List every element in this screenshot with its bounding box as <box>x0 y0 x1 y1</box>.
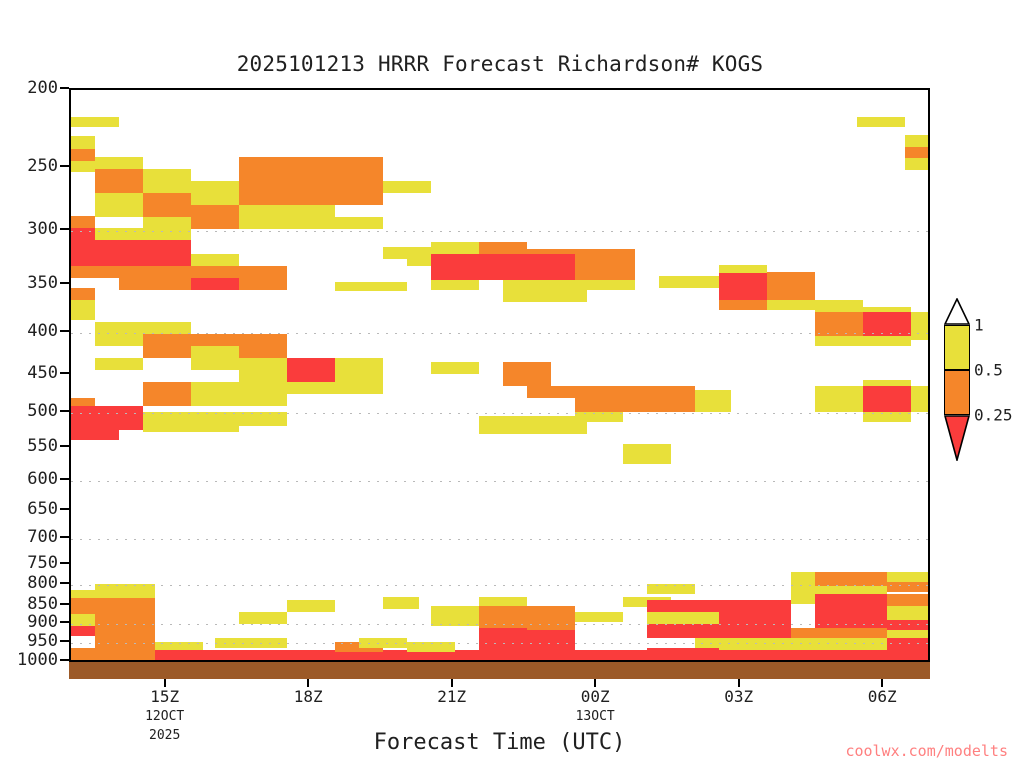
heatmap-cell <box>239 358 287 370</box>
heatmap-cell <box>239 157 383 205</box>
heatmap-cell <box>431 254 479 280</box>
y-axis-tick-mark <box>60 603 69 605</box>
heatmap-cell <box>503 280 635 290</box>
colorbar-segment <box>944 325 970 370</box>
heatmap-cell <box>431 242 479 254</box>
heatmap-cell <box>143 382 191 406</box>
heatmap-cell <box>95 334 143 346</box>
heatmap-cell <box>431 626 479 640</box>
y-axis-tick-label: 500 <box>27 401 58 421</box>
x-axis-sublabel: 12OCT <box>145 709 184 724</box>
heatmap-cell <box>239 612 287 624</box>
y-axis-tick-mark <box>60 445 69 447</box>
heatmap-cell <box>887 630 930 638</box>
heatmap-cell <box>719 638 791 650</box>
y-axis-tick-label: 200 <box>27 78 58 98</box>
heatmap-cell <box>647 612 719 624</box>
heatmap-cell <box>119 240 191 266</box>
colorbar-arrow-down-outline <box>944 415 970 461</box>
heatmap-cell <box>71 149 95 161</box>
heatmap-cell <box>503 290 587 302</box>
heatmap-cell <box>71 626 95 636</box>
heatmap-cell <box>905 135 930 147</box>
heatmap-cell <box>815 594 887 628</box>
heatmap-cell <box>575 612 623 622</box>
heatmap-cell <box>119 266 239 278</box>
y-axis-tick-mark <box>60 621 69 623</box>
heatmap-cell <box>191 205 239 229</box>
heatmap-cell <box>863 386 911 412</box>
x-axis-tick-mark <box>594 679 596 687</box>
heatmap-cell <box>95 584 155 598</box>
heatmap-cell <box>335 370 383 382</box>
y-axis-tick-mark <box>60 659 69 661</box>
x-axis-tick-label: 00Z <box>581 687 610 706</box>
y-axis-tick-label: 300 <box>27 219 58 239</box>
heatmap-cell <box>647 584 695 594</box>
y-axis-tick-label: 950 <box>27 631 58 651</box>
x-axis-tick-label: 15Z <box>150 687 179 706</box>
heatmap-cell <box>719 612 791 624</box>
heatmap-cell <box>719 265 767 273</box>
y-axis-tick-label: 600 <box>27 469 58 489</box>
y-axis-tick-label: 550 <box>27 436 58 456</box>
y-axis-tick-label: 1000 <box>17 650 58 670</box>
heatmap-cell <box>95 228 119 240</box>
y-axis-tick-mark <box>60 582 69 584</box>
x-axis-tick-mark <box>164 679 166 687</box>
heatmap-cell <box>719 300 767 310</box>
heatmap-cell <box>479 242 527 254</box>
heatmap-cell <box>863 380 911 386</box>
heatmap-cell <box>287 600 335 612</box>
x-axis-tick-label: 06Z <box>868 687 897 706</box>
heatmap-cell <box>287 382 383 394</box>
heatmap-cell <box>647 624 791 638</box>
heatmap-cell <box>911 386 930 412</box>
x-axis-tick-mark <box>307 679 309 687</box>
heatmap-cell <box>791 628 887 638</box>
heatmap-cell <box>71 648 155 660</box>
heatmap-cell <box>479 254 527 280</box>
heatmap-cell <box>119 228 191 240</box>
richardson-number-colorbar: 10.50.25 <box>944 325 970 460</box>
heatmap-cell <box>815 386 863 412</box>
heatmap-cell <box>575 249 635 280</box>
heatmap-cell <box>191 254 239 266</box>
heatmap-cell <box>719 600 791 612</box>
heatmap-cell <box>95 169 143 193</box>
heatmap-cell <box>887 572 930 582</box>
heatmap-cell <box>239 412 287 426</box>
heatmap-cell <box>911 312 930 340</box>
heatmap-cell <box>95 322 191 334</box>
y-axis-tick-mark <box>60 87 69 89</box>
heatmap-cell <box>905 158 930 170</box>
colorbar-tick-label: 0.5 <box>974 361 1003 380</box>
heatmap-cell <box>887 594 930 606</box>
heatmap-cell <box>647 600 719 612</box>
heatmap-cell <box>479 597 527 606</box>
heatmap-cell <box>71 288 95 300</box>
heatmap-cell <box>71 216 95 228</box>
heatmap-cell <box>815 336 911 346</box>
x-axis-tick-label: 03Z <box>724 687 753 706</box>
x-axis-tick-mark <box>738 679 740 687</box>
heatmap-cell <box>239 278 287 290</box>
heatmap-cell <box>887 638 930 650</box>
heatmap-cell <box>719 272 767 300</box>
heatmap-cell <box>527 630 575 650</box>
heatmap-cell <box>71 300 95 320</box>
heatmap-cell <box>503 362 551 386</box>
heatmap-cell <box>95 358 143 370</box>
heatmap-cell <box>95 193 143 217</box>
heatmap-cell <box>479 416 527 434</box>
heatmap-cell <box>383 597 419 609</box>
heatmap-cell <box>119 278 191 290</box>
y-axis-tick-label: 850 <box>27 594 58 614</box>
heatmap-cell <box>905 147 930 158</box>
heatmap-cell <box>887 606 930 620</box>
heatmap-cell <box>191 278 239 290</box>
watermark: coolwx.com/modelts <box>845 742 1008 760</box>
x-axis-tick-mark <box>881 679 883 687</box>
heatmap-cell <box>887 582 930 592</box>
heatmap-cell <box>863 412 911 422</box>
heatmap-cell <box>215 638 287 648</box>
heatmap-cell <box>71 266 119 278</box>
y-axis-tick-mark <box>60 562 69 564</box>
heatmap-cell <box>479 606 527 628</box>
heatmap-cell <box>767 272 815 300</box>
heatmap-cell <box>431 280 479 290</box>
heatmap-cell <box>239 370 287 382</box>
heatmap-cell <box>575 650 647 662</box>
heatmap-cell <box>479 628 527 650</box>
heatmap-cell <box>527 254 575 280</box>
heatmap-cell <box>527 618 575 630</box>
y-axis-tick-label: 450 <box>27 363 58 383</box>
heatmap-cell <box>71 136 95 149</box>
heatmap-cell <box>95 614 155 650</box>
y-axis-tick-mark <box>60 165 69 167</box>
plot-area <box>69 88 930 662</box>
heatmap-cell <box>335 358 383 370</box>
x-axis-sublabel: 13OCT <box>576 709 615 724</box>
heatmap-cell <box>71 614 95 626</box>
y-axis-tick-label: 400 <box>27 321 58 341</box>
colorbar-tick-label: 0.25 <box>974 406 1013 425</box>
heatmap-cell <box>191 412 239 432</box>
y-axis-tick-mark <box>60 410 69 412</box>
x-axis-tick-label: 21Z <box>437 687 466 706</box>
heatmap-cell <box>71 430 119 440</box>
heatmap-cell <box>95 157 143 169</box>
colorbar-tick-label: 1 <box>974 316 984 335</box>
chart-root: 2025101213 HRRR Forecast Richardson# KOG… <box>0 0 1024 768</box>
heatmap-cell <box>71 406 143 430</box>
heatmap-cell <box>71 117 119 127</box>
heatmap-cell <box>857 117 905 127</box>
x-axis-tick-mark <box>451 679 453 687</box>
heatmap-cell <box>575 386 647 412</box>
colorbar-arrow-up-outline <box>944 298 970 325</box>
heatmap-cell <box>431 362 479 374</box>
heatmap-cell <box>71 161 95 172</box>
heatmap-cell <box>815 300 863 312</box>
y-axis-tick-label: 700 <box>27 527 58 547</box>
heatmap-cell <box>695 390 731 412</box>
heatmap-cell <box>239 266 287 278</box>
y-axis-tick-mark <box>60 372 69 374</box>
heatmap-cell <box>191 346 239 370</box>
y-axis-tick-mark <box>60 640 69 642</box>
y-axis: 2002503003504004505005506006507007508008… <box>0 0 58 768</box>
y-axis-tick-mark <box>60 330 69 332</box>
heatmap-cell <box>191 382 287 406</box>
heatmap-cell <box>383 181 431 193</box>
y-axis-tick-label: 750 <box>27 553 58 573</box>
heatmap-cell <box>143 412 191 432</box>
heatmap-cell <box>143 169 191 193</box>
heatmap-cell <box>647 386 695 412</box>
heatmap-cell <box>335 282 407 291</box>
heatmap-cell <box>287 217 383 229</box>
heatmap-cell <box>239 334 287 358</box>
heatmap-cell <box>155 650 647 662</box>
y-axis-tick-mark <box>60 282 69 284</box>
heatmap-cell <box>527 416 587 434</box>
heatmap-cell <box>71 598 155 614</box>
heatmap-cell <box>407 642 455 652</box>
x-axis-tick-label: 18Z <box>294 687 323 706</box>
y-axis-tick-label: 800 <box>27 573 58 593</box>
heatmap-cell <box>431 606 479 626</box>
y-axis-tick-mark <box>60 508 69 510</box>
heatmap-cell <box>887 620 930 630</box>
colorbar-segment <box>944 370 970 415</box>
y-axis-tick-label: 650 <box>27 499 58 519</box>
y-axis-tick-label: 250 <box>27 156 58 176</box>
heatmap-cell <box>815 572 887 586</box>
heatmap-cell <box>527 606 575 618</box>
page-title: 2025101213 HRRR Forecast Richardson# KOG… <box>0 52 1000 76</box>
heatmap-cell <box>71 398 95 406</box>
heatmap-cell <box>359 638 407 648</box>
x-axis-label: Forecast Time (UTC) <box>69 730 930 755</box>
heatmap-cell <box>527 386 575 398</box>
y-axis-tick-mark <box>60 478 69 480</box>
heatmap-cell <box>623 444 671 464</box>
y-axis-tick-label: 350 <box>27 273 58 293</box>
heatmap-cell <box>287 358 335 382</box>
y-axis-tick-label: 900 <box>27 612 58 632</box>
terrain-band <box>69 662 930 679</box>
heatmap-cell <box>143 193 191 217</box>
heatmap-cell <box>71 636 95 648</box>
heatmap-cells <box>71 90 928 660</box>
y-axis-tick-mark <box>60 536 69 538</box>
y-axis-tick-mark <box>60 228 69 230</box>
